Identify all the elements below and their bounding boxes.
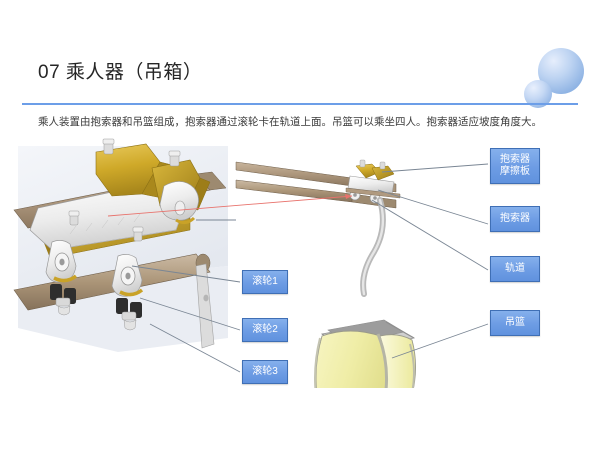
- slide-canvas: 07 乘人器（吊箱） 乘人装置由抱索器和吊篮组成，抱索器通过滚轮卡在轨道上面。吊…: [0, 0, 600, 450]
- callout-gripper[interactable]: 抱索器: [490, 206, 540, 232]
- title-divider: [22, 103, 578, 105]
- callout-friction-plate[interactable]: 抱索器 摩擦板: [490, 148, 540, 184]
- callout-roller-1[interactable]: 滚轮1: [242, 270, 288, 294]
- slide-subtitle: 乘人装置由抱索器和吊篮组成，抱索器通过滚轮卡在轨道上面。吊篮可以乘坐四人。抱索器…: [38, 115, 568, 130]
- callout-track[interactable]: 轨道: [490, 256, 540, 282]
- callout-roller-3[interactable]: 滚轮3: [242, 360, 288, 384]
- page-title: 07 乘人器（吊箱）: [38, 57, 202, 84]
- callout-cabin[interactable]: 吊篮: [490, 310, 540, 336]
- decoration-circles: [522, 40, 592, 110]
- callout-roller-2[interactable]: 滚轮2: [242, 318, 288, 342]
